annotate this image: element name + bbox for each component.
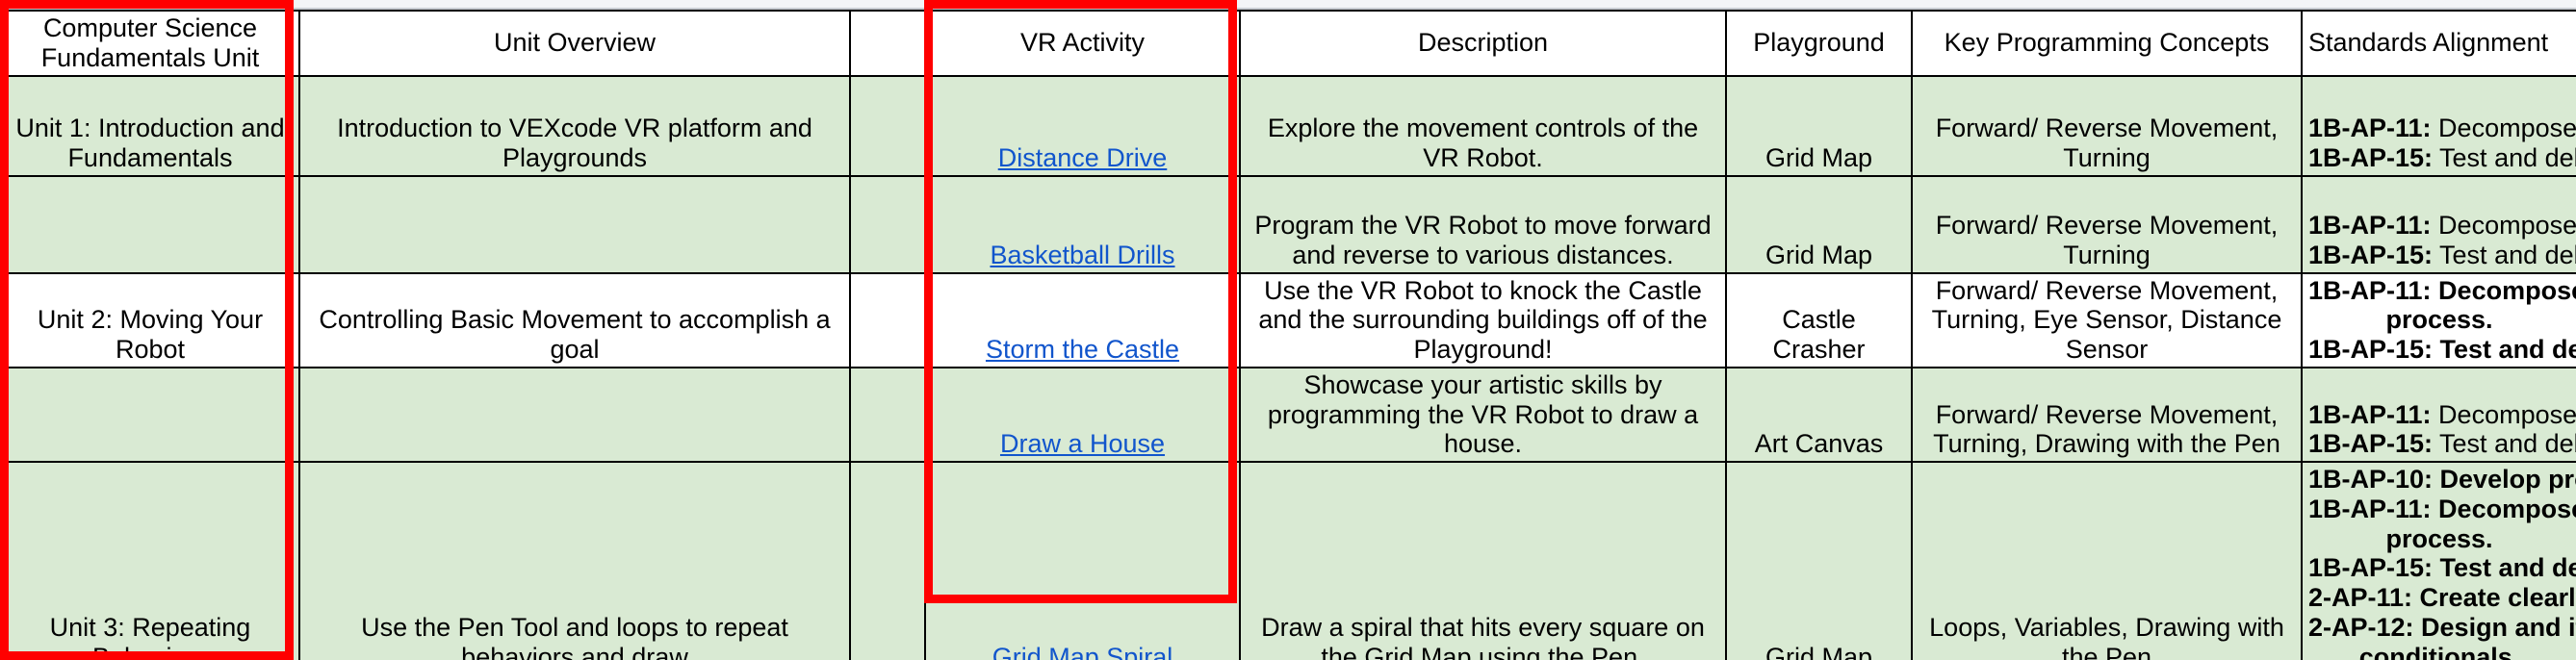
- standard-text: Design and ite: [2414, 613, 2576, 642]
- standards-alignment-cell: 1B-AP-11: Decompose (1B-AP-15: Test and …: [2302, 368, 2576, 462]
- standard-text: Decompose (: [2432, 276, 2576, 305]
- standards-alignment-cell: 1B-AP-11: Decompose (1B-AP-15: Test and …: [2302, 176, 2576, 273]
- unit-overview-cell: Introduction to VEXcode VR platform and …: [299, 76, 850, 176]
- table-header-row: Computer Science Fundamentals UnitUnit O…: [1, 11, 2576, 76]
- standard-text: process.: [2385, 524, 2492, 553]
- sheet-top-chrome: [0, 0, 2576, 10]
- standard-line: 1B-AP-15: Test and deb: [2308, 335, 2570, 365]
- key-concepts-cell: Forward/ Reverse Movement, Turning: [1912, 76, 2302, 176]
- playground-cell: Grid Map: [1726, 462, 1912, 660]
- standard-line: 1B-AP-11: Decompose (: [2308, 400, 2570, 430]
- standard-code: 1B-AP-11:: [2308, 495, 2432, 523]
- standard-code: 2-AP-12:: [2308, 613, 2414, 642]
- standard-code: 1B-AP-11:: [2308, 400, 2432, 429]
- vr-activity-cell: Grid Map Spiral: [925, 462, 1240, 660]
- standards-alignment-cell: 1B-AP-11: Decompose (process.1B-AP-15: T…: [2302, 273, 2576, 368]
- standard-line: 1B-AP-15: Test and debu: [2308, 241, 2570, 270]
- standards-alignment-cell: 1B-AP-11: Decompose (1B-AP-15: Test and …: [2302, 76, 2576, 176]
- column-header-2: [850, 11, 925, 76]
- table-row: Unit 2: Moving Your RobotControlling Bas…: [1, 273, 2576, 368]
- standard-text: Develop prog: [2433, 465, 2576, 494]
- column-header-6: Key Programming Concepts: [1912, 11, 2302, 76]
- unit-name-cell: Unit 1: Introduction and Fundamentals: [1, 76, 299, 176]
- table-row: Draw a HouseShowcase your artistic skill…: [1, 368, 2576, 462]
- vr-activity-link[interactable]: Draw a House: [1000, 429, 1165, 458]
- vr-activity-cell: Draw a House: [925, 368, 1240, 462]
- standard-code: 1B-AP-11:: [2308, 114, 2432, 142]
- column-header-0: Computer Science Fundamentals Unit: [1, 11, 299, 76]
- unit-name-cell: Unit 3: Repeating Behaviors: [1, 462, 299, 660]
- standard-code: 1B-AP-15:: [2308, 429, 2433, 458]
- standard-code: 1B-AP-11:: [2308, 276, 2432, 305]
- playground-cell: Grid Map: [1726, 176, 1912, 273]
- standard-code: 1B-AP-15:: [2308, 553, 2433, 582]
- spacer-cell: [850, 273, 925, 368]
- unit-overview-cell: Controlling Basic Movement to accomplish…: [299, 273, 850, 368]
- standard-text: Decompose (: [2432, 211, 2576, 240]
- standard-text: conditionals.: [2359, 643, 2520, 660]
- playground-cell: Castle Crasher: [1726, 273, 1912, 368]
- standard-code: 1B-AP-15:: [2308, 143, 2433, 172]
- standard-line: 1B-AP-15: Test and debu: [2308, 429, 2570, 459]
- standard-line: process.: [2308, 524, 2570, 554]
- spacer-cell: [850, 462, 925, 660]
- description-cell: Explore the movement controls of the VR …: [1240, 76, 1726, 176]
- vr-activity-link[interactable]: Basketball Drills: [990, 241, 1174, 269]
- standard-text: Test and deb: [2433, 553, 2576, 582]
- standard-line: 1B-AP-15: Test and debu: [2308, 143, 2570, 173]
- standard-code: 2-AP-11:: [2308, 583, 2412, 612]
- standard-line: process.: [2308, 305, 2570, 335]
- table-row: Basketball DrillsProgram the VR Robot to…: [1, 176, 2576, 273]
- standard-text: Decompose (: [2432, 114, 2576, 142]
- description-cell: Draw a spiral that hits every square on …: [1240, 462, 1726, 660]
- unit-name-cell: [1, 368, 299, 462]
- column-header-4: Description: [1240, 11, 1726, 76]
- standards-alignment-cell: 1B-AP-10: Develop prog1B-AP-11: Decompos…: [2302, 462, 2576, 660]
- standard-line: 1B-AP-11: Decompose (: [2308, 276, 2570, 306]
- key-concepts-cell: Loops, Variables, Drawing with the Pen: [1912, 462, 2302, 660]
- standard-code: 1B-AP-11:: [2308, 211, 2432, 240]
- description-cell: Use the VR Robot to knock the Castle and…: [1240, 273, 1726, 368]
- standard-line: 1B-AP-11: Decompose (: [2308, 495, 2570, 524]
- vr-activity-link[interactable]: Storm the Castle: [986, 335, 1179, 364]
- key-concepts-cell: Forward/ Reverse Movement, Turning: [1912, 176, 2302, 273]
- spacer-cell: [850, 76, 925, 176]
- vr-activity-cell: Basketball Drills: [925, 176, 1240, 273]
- key-concepts-cell: Forward/ Reverse Movement, Turning, Eye …: [1912, 273, 2302, 368]
- standard-text: Decompose (: [2432, 400, 2576, 429]
- standard-text: Test and debu: [2433, 429, 2576, 458]
- column-header-3: VR Activity: [925, 11, 1240, 76]
- description-cell: Program the VR Robot to move forward and…: [1240, 176, 1726, 273]
- vr-activity-link[interactable]: Grid Map Spiral: [992, 643, 1173, 660]
- standard-code: 1B-AP-15:: [2308, 335, 2433, 364]
- curriculum-table: Computer Science Fundamentals UnitUnit O…: [0, 10, 2576, 660]
- key-concepts-cell: Forward/ Reverse Movement, Turning, Draw…: [1912, 368, 2302, 462]
- vr-activity-link[interactable]: Distance Drive: [998, 143, 1168, 172]
- standard-line: 1B-AP-10: Develop prog: [2308, 465, 2570, 495]
- table-row: Unit 1: Introduction and FundamentalsInt…: [1, 76, 2576, 176]
- spreadsheet-view: Computer Science Fundamentals UnitUnit O…: [0, 0, 2576, 660]
- column-header-1: Unit Overview: [299, 11, 850, 76]
- unit-overview-cell: [299, 176, 850, 273]
- standard-text: Create clearly: [2412, 583, 2576, 612]
- spacer-cell: [850, 176, 925, 273]
- column-header-5: Playground: [1726, 11, 1912, 76]
- vr-activity-cell: Storm the Castle: [925, 273, 1240, 368]
- standard-line: 1B-AP-11: Decompose (: [2308, 114, 2570, 143]
- playground-cell: Grid Map: [1726, 76, 1912, 176]
- standard-text: Test and debu: [2433, 143, 2576, 172]
- unit-name-cell: [1, 176, 299, 273]
- standard-line: 1B-AP-11: Decompose (: [2308, 211, 2570, 241]
- standard-line: 1B-AP-15: Test and deb: [2308, 553, 2570, 583]
- standard-line: 2-AP-11: Create clearly: [2308, 583, 2570, 613]
- table-row: Unit 3: Repeating BehaviorsUse the Pen T…: [1, 462, 2576, 660]
- column-header-7: Standards Alignment: [2302, 11, 2576, 76]
- standard-text: process.: [2385, 305, 2492, 334]
- vr-activity-cell: Distance Drive: [925, 76, 1240, 176]
- standard-code: 1B-AP-10:: [2308, 465, 2433, 494]
- unit-overview-cell: [299, 368, 850, 462]
- standard-text: Test and deb: [2433, 335, 2576, 364]
- standard-text: Decompose (: [2432, 495, 2576, 523]
- description-cell: Showcase your artistic skills by program…: [1240, 368, 1726, 462]
- standard-text: Test and debu: [2433, 241, 2576, 269]
- spacer-cell: [850, 368, 925, 462]
- unit-overview-cell: Use the Pen Tool and loops to repeat beh…: [299, 462, 850, 660]
- standard-code: 1B-AP-15:: [2308, 241, 2433, 269]
- standard-line: conditionals.: [2308, 643, 2570, 660]
- unit-name-cell: Unit 2: Moving Your Robot: [1, 273, 299, 368]
- standard-line: 2-AP-12: Design and ite: [2308, 613, 2570, 643]
- playground-cell: Art Canvas: [1726, 368, 1912, 462]
